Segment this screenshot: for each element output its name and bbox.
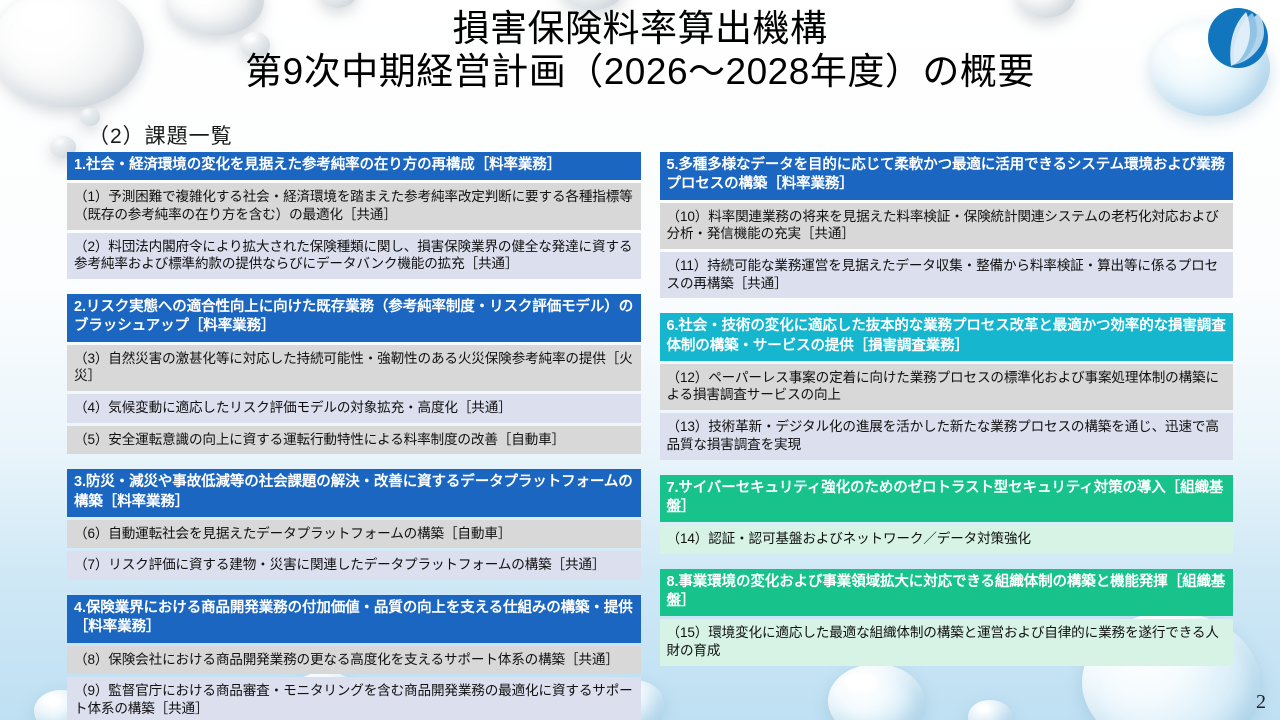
section-gap: [660, 557, 1234, 566]
issue-row: （8）保険会社における商品開発業務の更なる高度化を支えるサポート体系の構築［共通…: [67, 646, 641, 675]
issue-row: （3）自然災害の激甚化等に対応した持続可能性・強靭性のある火災保険参考純率の提供…: [67, 345, 641, 391]
issue-row: （11）持続可能な業務運営を見据えたデータ収集・整備から料率検証・算出等に係るプ…: [660, 252, 1234, 298]
issue-row: （9）監督官庁における商品審査・モニタリングを含む商品開発業務の最適化に資するサ…: [67, 677, 641, 720]
issue-row: （4）気候変動に適応したリスク評価モデルの対象拡充・高度化［共通］: [67, 394, 641, 423]
right-column: 5.多種多様なデータを目的に応じて柔軟かつ最適に活用できるシステム環境および業務…: [660, 152, 1234, 720]
section-header: 3.防災・減災や事故低減等の社会課題の解決・改善に資するデータプラットフォームの…: [67, 469, 641, 517]
issue-row: （5）安全運転意識の向上に資する運転行動特性による料率制度の改善［自動車］: [67, 426, 641, 455]
issue-row: （15）環境変化に適応した最適な組織体制の構築と運営および自律的に業務を遂行でき…: [660, 619, 1234, 665]
section-header: 2.リスク実態への適合性向上に向けた既存業務（参考純率制度・リスク評価モデル）の…: [67, 294, 641, 342]
section-header: 1.社会・経済環境の変化を見据えた参考純率の在り方の再構成［料率業務］: [67, 152, 641, 180]
slide-title-line-2: 第9次中期経営計画（2026〜2028年度）の概要: [0, 51, 1280, 94]
section-gap: [67, 457, 641, 466]
issue-row: （12）ペーパーレス事案の定着に向けた業務プロセスの標準化および事案処理体制の構…: [660, 364, 1234, 410]
left-column: 1.社会・経済環境の変化を見据えた参考純率の在り方の再構成［料率業務］（1）予測…: [67, 152, 641, 720]
section-header: 4.保険業界における商品開発業務の付加価値・品質の向上を支える仕組みの構築・提供…: [67, 595, 641, 643]
issues-table: 1.社会・経済環境の変化を見据えた参考純率の在り方の再構成［料率業務］（1）予測…: [67, 152, 1233, 720]
section-header: 8.事業環境の変化および事業領域拡大に対応できる組織体制の構築と機能発揮［組織基…: [660, 569, 1234, 617]
section-gap: [660, 301, 1234, 310]
section-gap: [660, 463, 1234, 472]
section-header: 5.多種多様なデータを目的に応じて柔軟かつ最適に活用できるシステム環境および業務…: [660, 152, 1234, 200]
section-gap: [67, 282, 641, 291]
issue-row: （2）料団法内閣府令により拡大された保険種類に関し、損害保険業界の健全な発達に資…: [67, 233, 641, 279]
section-gap: [67, 583, 641, 592]
issue-row: （6）自動運転社会を見据えたデータプラットフォームの構築［自動車］: [67, 520, 641, 549]
slide-subtitle: （2）課題一覧: [88, 120, 233, 150]
section-header: 6.社会・技術の変化に適応した抜本的な業務プロセス改革と最適かつ効率的な損害調査…: [660, 313, 1234, 361]
issue-row: （14）認証・認可基盤およびネットワーク／データ対策強化: [660, 525, 1234, 554]
page-number: 2: [1256, 691, 1266, 714]
section-header: 7.サイバーセキュリティ強化のためのゼロトラスト型セキュリティ対策の導入［組織基…: [660, 475, 1234, 523]
issue-row: （13）技術革新・デジタル化の進展を活かした新たな業務プロセスの構築を通じ、迅速…: [660, 413, 1234, 459]
bubble-decoration: [318, 0, 358, 8]
issue-row: （1）予測困難で複雑化する社会・経済環境を踏まえた参考純率改定判断に要する各種指…: [67, 183, 641, 229]
issue-row: （10）料率関連業務の将来を見据えた料率検証・保険統計関連システムの老朽化対応お…: [660, 203, 1234, 249]
slide-title-line-1: 損害保険料率算出機構: [0, 8, 1280, 51]
issue-row: （7）リスク評価に資する建物・災害に関連したデータプラットフォームの構築［共通］: [67, 551, 641, 580]
slide-title: 損害保険料率算出機構 第9次中期経営計画（2026〜2028年度）の概要: [0, 8, 1280, 94]
